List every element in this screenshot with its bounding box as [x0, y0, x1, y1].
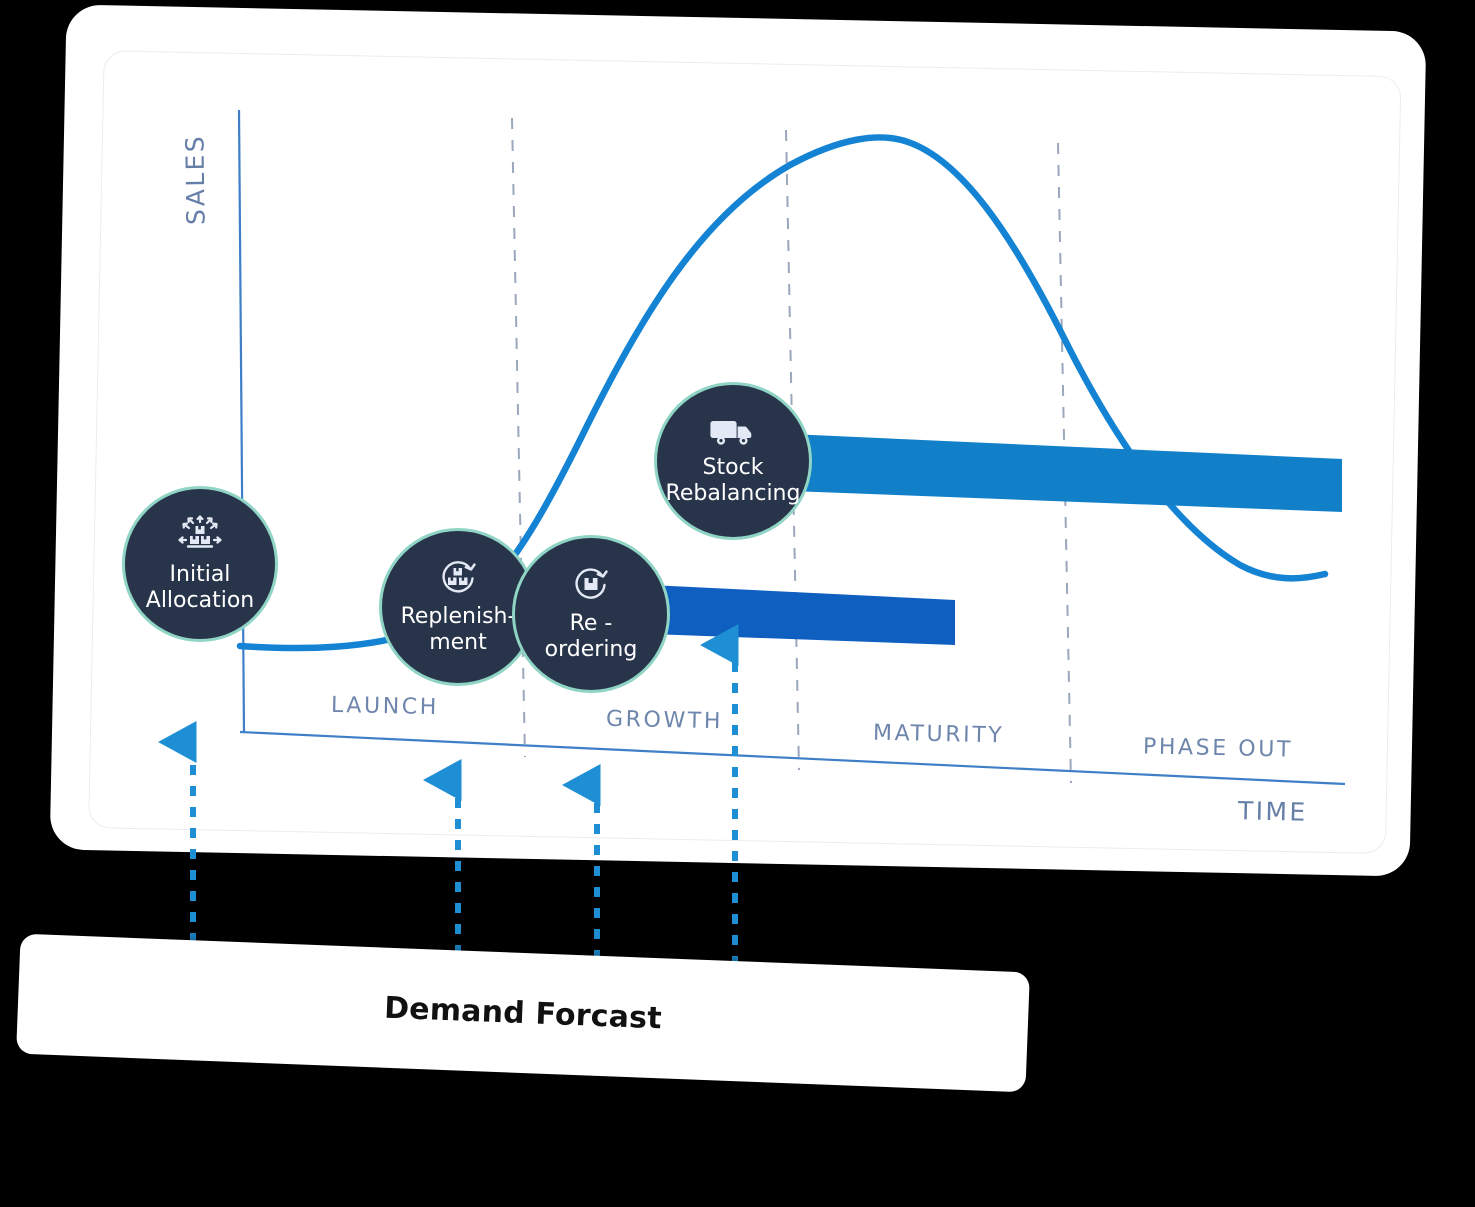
diagram-root: SALES TIME LAUNCH GROWTH MATURITY PHASE … [0, 0, 1475, 1207]
y-axis-label: SALES [180, 134, 210, 225]
delivery-truck-icon [710, 416, 756, 448]
phase-label-phase-out: PHASE OUT [1143, 734, 1293, 762]
x-axis-label: TIME [1238, 796, 1308, 826]
phase-label-growth: GROWTH [606, 707, 723, 734]
node-label: Stock Rebalancing [660, 455, 807, 507]
demand-forecast-card[interactable]: Demand Forcast [16, 934, 1030, 1093]
phase-label-maturity: MATURITY [873, 721, 1005, 749]
node-stock-rebalancing[interactable]: Stock Rebalancing [654, 382, 812, 540]
boxes-distribute-icon [177, 515, 223, 555]
node-label: Replenish- ment [395, 604, 522, 656]
node-initial-allocation[interactable]: Initial Allocation [122, 486, 278, 642]
boxes-refresh-icon [437, 559, 479, 597]
node-label: Re - ordering [539, 611, 644, 663]
phase-label-launch: LAUNCH [331, 693, 439, 720]
demand-forecast-label: Demand Forcast [384, 990, 663, 1036]
box-reorder-icon [570, 566, 612, 604]
node-reordering[interactable]: Re - ordering [512, 535, 670, 693]
node-label: Initial Allocation [140, 562, 260, 614]
